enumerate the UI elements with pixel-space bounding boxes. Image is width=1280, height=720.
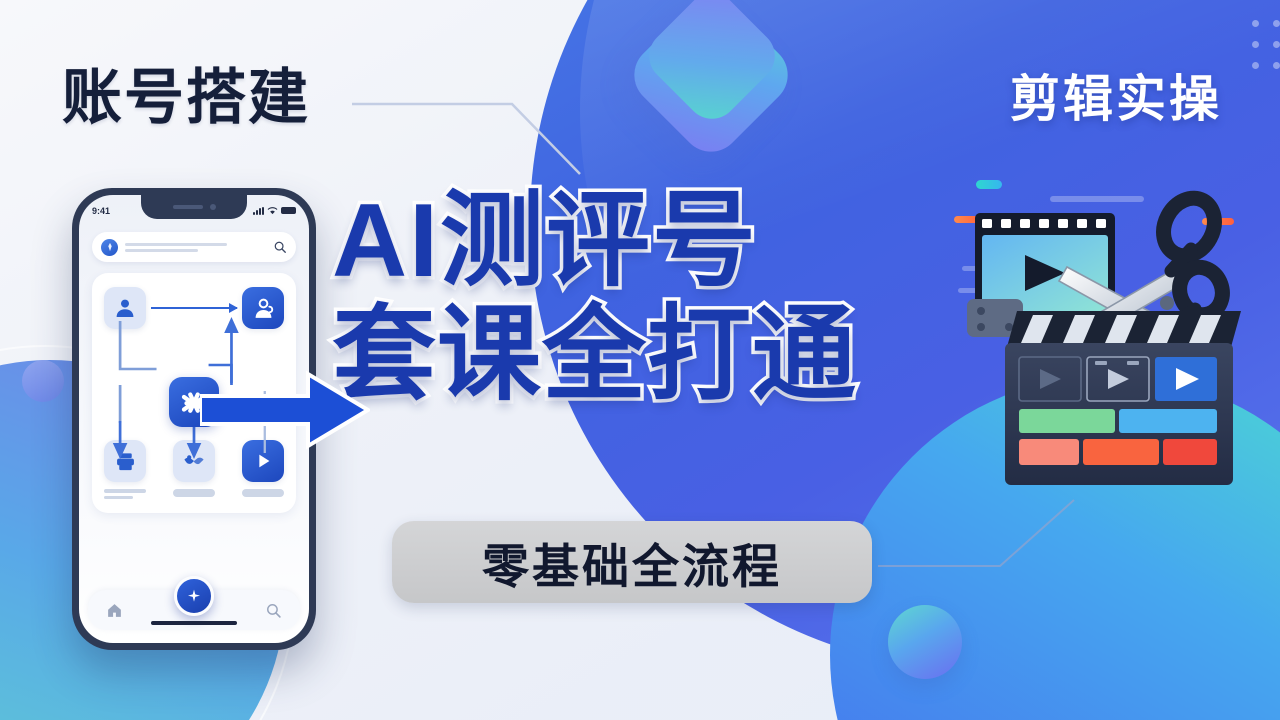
title-line-1: AI测评号 [332,188,857,294]
tag-account-setup: 账号搭建 [62,68,310,128]
main-title: AI测评号 套课全打通 [332,188,857,408]
clapperboard-icon [967,299,1241,485]
avatar-icon[interactable] [101,239,118,256]
title-line-2: 套课全打通 [332,302,857,408]
search-icon[interactable] [265,602,282,619]
phone-navbar [88,590,300,630]
background-sphere [888,605,962,679]
phone-search-bar[interactable] [92,232,296,262]
status-time: 9:41 [92,206,110,216]
wifi-icon [267,206,278,215]
connector-line-bottom-right [878,498,1088,578]
video-editing-illustration [955,175,1275,505]
battery-icon [281,207,296,214]
search-placeholder-lines [125,243,266,252]
status-icons [253,206,296,215]
phone-statusbar: 9:41 [79,195,309,221]
signal-icon [253,207,264,215]
sparkle-icon[interactable] [174,576,214,616]
big-right-arrow [200,370,370,450]
subtitle-badge: 零基础全流程 [392,521,872,603]
poster-canvas: 账号搭建 剪辑实操 AI测评号 套课全打通 零基础全流程 9:41 [0,0,1280,720]
subtitle-text: 零基础全流程 [482,528,782,597]
tag-editing-practice: 剪辑实操 [1010,74,1222,124]
home-icon[interactable] [106,602,123,619]
search-icon[interactable] [273,240,287,254]
background-dot-small [22,360,64,402]
home-indicator [151,621,237,625]
